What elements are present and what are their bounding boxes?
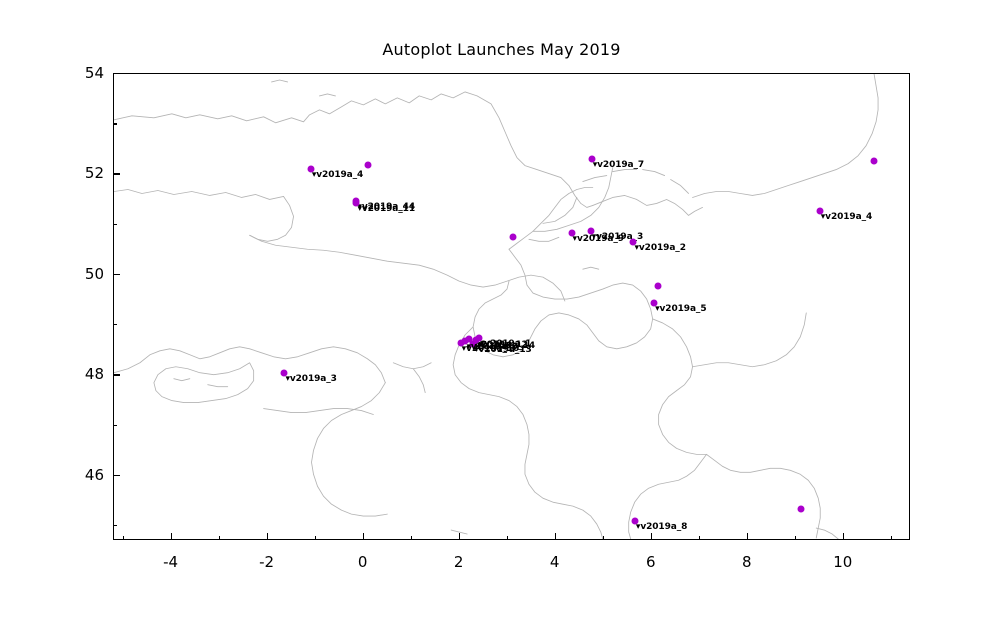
x-axis-minor-tick	[315, 536, 316, 540]
y-axis-minor-tick	[113, 525, 117, 526]
x-axis-minor-tick	[411, 536, 412, 540]
x-axis-tick	[459, 533, 460, 540]
x-axis-tick	[747, 533, 748, 540]
y-axis-minor-tick	[113, 123, 117, 124]
x-axis-tick	[267, 533, 268, 540]
x-axis-minor-tick	[603, 536, 604, 540]
x-axis-tick-label: 6	[646, 553, 656, 571]
data-point-marker[interactable]	[654, 282, 661, 289]
y-axis-tick	[113, 73, 120, 74]
x-axis-tick-label: 10	[833, 553, 852, 571]
y-axis-tick	[113, 274, 120, 275]
x-axis-tick-label: 0	[358, 553, 368, 571]
data-point-marker[interactable]	[509, 234, 516, 241]
figure-canvas: Autoplot Launches May 2019	[0, 0, 1003, 633]
data-point-marker[interactable]	[797, 506, 804, 513]
coastline-svg	[114, 74, 909, 539]
x-axis-tick-label: 2	[454, 553, 464, 571]
data-point-label: ▾v2019a_5	[655, 304, 706, 314]
y-axis-tick-label: 50	[85, 265, 113, 283]
x-axis-minor-tick	[795, 536, 796, 540]
data-point-marker[interactable]	[365, 162, 372, 169]
x-axis-minor-tick	[219, 536, 220, 540]
x-axis-tick-label: 8	[742, 553, 752, 571]
data-point-label: ▾v2019a_2	[634, 243, 685, 253]
data-point-label: ▾v2019a_11	[357, 204, 415, 214]
y-axis-tick-label: 46	[85, 466, 113, 484]
y-axis-tick-label: 52	[85, 164, 113, 182]
x-axis-tick-label: 4	[550, 553, 560, 571]
x-axis-tick	[171, 533, 172, 540]
data-point-label: ▾v2019a_3	[285, 374, 336, 384]
data-point-label: ▾v2019a_7	[593, 160, 644, 170]
x-axis-tick	[363, 533, 364, 540]
data-point-label: ▾v2019a_8	[636, 522, 687, 532]
data-point-label: ▾v2019a_4	[821, 212, 872, 222]
y-axis-minor-tick	[113, 425, 117, 426]
x-axis-minor-tick	[891, 536, 892, 540]
y-axis-tick	[113, 475, 120, 476]
x-axis-tick-label: -4	[163, 553, 178, 571]
x-axis-minor-tick	[699, 536, 700, 540]
data-point-marker[interactable]	[870, 157, 877, 164]
x-axis-tick	[651, 533, 652, 540]
y-axis-minor-tick	[113, 324, 117, 325]
x-axis-tick-label: -2	[259, 553, 274, 571]
data-point-label: ▾v2019a_1	[480, 339, 531, 349]
y-axis-tick-label: 48	[85, 365, 113, 383]
x-axis-tick	[843, 533, 844, 540]
y-axis-tick	[113, 374, 120, 375]
data-point-label: ▾v2019a_4	[312, 170, 363, 180]
x-axis-minor-tick	[507, 536, 508, 540]
x-axis-minor-tick	[123, 536, 124, 540]
coastline-paths	[114, 74, 878, 539]
y-axis-tick	[113, 173, 120, 174]
plot-axes-area: ▾v2019a_4▾v2019a_44▾v2019a_11▾v2019a_3▾v…	[113, 73, 910, 540]
page-title: Autoplot Launches May 2019	[0, 40, 1003, 59]
basemap-coastlines	[114, 74, 909, 539]
y-axis-tick-label: 54	[85, 64, 113, 82]
y-axis-minor-tick	[113, 224, 117, 225]
x-axis-tick	[555, 533, 556, 540]
